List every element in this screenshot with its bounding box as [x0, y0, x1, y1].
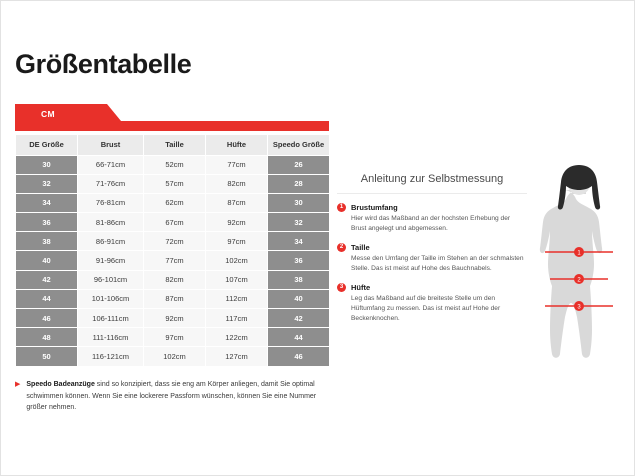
cell-waist: 82cm	[144, 270, 206, 289]
cell-waist: 77cm	[144, 251, 206, 270]
instruction-name: Brustumfang	[351, 203, 398, 212]
instruction-item: 3HüfteLeg das Maßband auf die breiteste …	[337, 283, 527, 324]
cell-de-size: 44	[16, 289, 78, 308]
cell-speedo-size: 26	[268, 155, 330, 174]
cell-de-size: 46	[16, 309, 78, 328]
cell-hips: 107cm	[206, 270, 268, 289]
cell-waist: 52cm	[144, 155, 206, 174]
cell-de-size: 34	[16, 193, 78, 212]
instruction-body: Hier wird das Maßband an der hochsten Er…	[337, 214, 527, 234]
cell-hips: 97cm	[206, 232, 268, 251]
cell-speedo-size: 34	[268, 232, 330, 251]
cell-hips: 122cm	[206, 328, 268, 347]
table-body: 3066-71cm52cm77cm263271-76cm57cm82cm2834…	[16, 155, 330, 366]
cell-speedo-size: 42	[268, 309, 330, 328]
instruction-heading: 1Brustumfang	[337, 203, 527, 212]
cell-speedo-size: 36	[268, 251, 330, 270]
column-header-speedo-size: Speedo Größe	[268, 135, 330, 155]
cell-bust: 101-106cm	[78, 289, 144, 308]
cell-waist: 67cm	[144, 213, 206, 232]
cell-bust: 116-121cm	[78, 347, 144, 366]
cell-waist: 87cm	[144, 289, 206, 308]
cell-speedo-size: 28	[268, 174, 330, 193]
cell-hips: 77cm	[206, 155, 268, 174]
footnote: ▶ Speedo Badeanzüge sind so konzipiert, …	[15, 379, 329, 414]
cell-speedo-size: 44	[268, 328, 330, 347]
cell-de-size: 36	[16, 213, 78, 232]
table-row: 3066-71cm52cm77cm26	[16, 155, 330, 174]
instruction-body: Messe den Umfang der Taille im Stehen an…	[337, 254, 527, 274]
column-header-bust: Brust	[78, 135, 144, 155]
cell-de-size: 30	[16, 155, 78, 174]
cell-waist: 92cm	[144, 309, 206, 328]
table-row: 46106-111cm92cm117cm42	[16, 309, 330, 328]
unit-banner: CM	[15, 104, 329, 135]
cell-hips: 117cm	[206, 309, 268, 328]
footnote-text: Speedo Badeanzüge sind so konzipiert, da…	[26, 379, 329, 414]
cell-hips: 87cm	[206, 193, 268, 212]
column-header-de-size: DE Größe	[16, 135, 78, 155]
cell-bust: 66-71cm	[78, 155, 144, 174]
cell-bust: 86-91cm	[78, 232, 144, 251]
cell-waist: 57cm	[144, 174, 206, 193]
instruction-name: Taille	[351, 243, 370, 252]
instruction-heading: 2Taille	[337, 243, 527, 252]
table-row: 44101-106cm87cm112cm40	[16, 289, 330, 308]
cell-bust: 91-96cm	[78, 251, 144, 270]
cell-de-size: 38	[16, 232, 78, 251]
instructions-panel: Anleitung zur Selbstmessung 1Brustumfang…	[337, 173, 527, 333]
cell-bust: 76-81cm	[78, 193, 144, 212]
cell-hips: 92cm	[206, 213, 268, 232]
cell-hips: 82cm	[206, 174, 268, 193]
cell-speedo-size: 30	[268, 193, 330, 212]
cell-de-size: 42	[16, 270, 78, 289]
table-row: 48111-116cm97cm122cm44	[16, 328, 330, 347]
cell-hips: 112cm	[206, 289, 268, 308]
cell-speedo-size: 40	[268, 289, 330, 308]
instruction-number-badge: 3	[337, 283, 346, 292]
bullet-marker-icon: ▶	[15, 379, 20, 414]
cell-hips: 127cm	[206, 347, 268, 366]
column-header-waist: Taille	[144, 135, 206, 155]
cell-de-size: 40	[16, 251, 78, 270]
cell-hips: 102cm	[206, 251, 268, 270]
body-figure-illustration: 1 2 3	[531, 164, 627, 362]
cell-bust: 96-101cm	[78, 270, 144, 289]
column-header-hips: Hüfte	[206, 135, 268, 155]
banner-shape-icon	[15, 104, 329, 135]
table-row: 3271-76cm57cm82cm28	[16, 174, 330, 193]
size-chart-page: Größentabelle CM DE Größe Brust Taille H…	[0, 0, 635, 476]
table-row: 3476-81cm62cm87cm30	[16, 193, 330, 212]
size-table: DE Größe Brust Taille Hüfte Speedo Größe…	[15, 135, 330, 367]
instruction-body: Leg das Maßband auf die breiteste Stelle…	[337, 294, 527, 324]
footnote-lead: Speedo Badeanzüge	[26, 381, 94, 388]
page-title: Größentabelle	[15, 49, 191, 80]
cell-de-size: 50	[16, 347, 78, 366]
cell-waist: 62cm	[144, 193, 206, 212]
cell-speedo-size: 46	[268, 347, 330, 366]
cell-waist: 72cm	[144, 232, 206, 251]
unit-label-cm: CM	[41, 109, 55, 119]
cell-waist: 97cm	[144, 328, 206, 347]
instruction-item: 2TailleMesse den Umfang der Taille im St…	[337, 243, 527, 274]
instructions-list: 1BrustumfangHier wird das Maßband an der…	[337, 203, 527, 324]
instructions-title: Anleitung zur Selbstmessung	[337, 173, 527, 194]
instruction-item: 1BrustumfangHier wird das Maßband an der…	[337, 203, 527, 234]
cell-waist: 102cm	[144, 347, 206, 366]
table-row: 3681-86cm67cm92cm32	[16, 213, 330, 232]
instruction-name: Hüfte	[351, 283, 370, 292]
cell-de-size: 32	[16, 174, 78, 193]
table-header-row: DE Größe Brust Taille Hüfte Speedo Größe	[16, 135, 330, 155]
table-row: 3886-91cm72cm97cm34	[16, 232, 330, 251]
cell-de-size: 48	[16, 328, 78, 347]
cell-speedo-size: 32	[268, 213, 330, 232]
cell-bust: 71-76cm	[78, 174, 144, 193]
instruction-number-badge: 2	[337, 243, 346, 252]
cell-bust: 111-116cm	[78, 328, 144, 347]
cell-bust: 106-111cm	[78, 309, 144, 328]
table-row: 4091-96cm77cm102cm36	[16, 251, 330, 270]
instruction-number-badge: 1	[337, 203, 346, 212]
cell-bust: 81-86cm	[78, 213, 144, 232]
table-row: 50116-121cm102cm127cm46	[16, 347, 330, 366]
cell-speedo-size: 38	[268, 270, 330, 289]
instruction-heading: 3Hüfte	[337, 283, 527, 292]
table-row: 4296-101cm82cm107cm38	[16, 270, 330, 289]
